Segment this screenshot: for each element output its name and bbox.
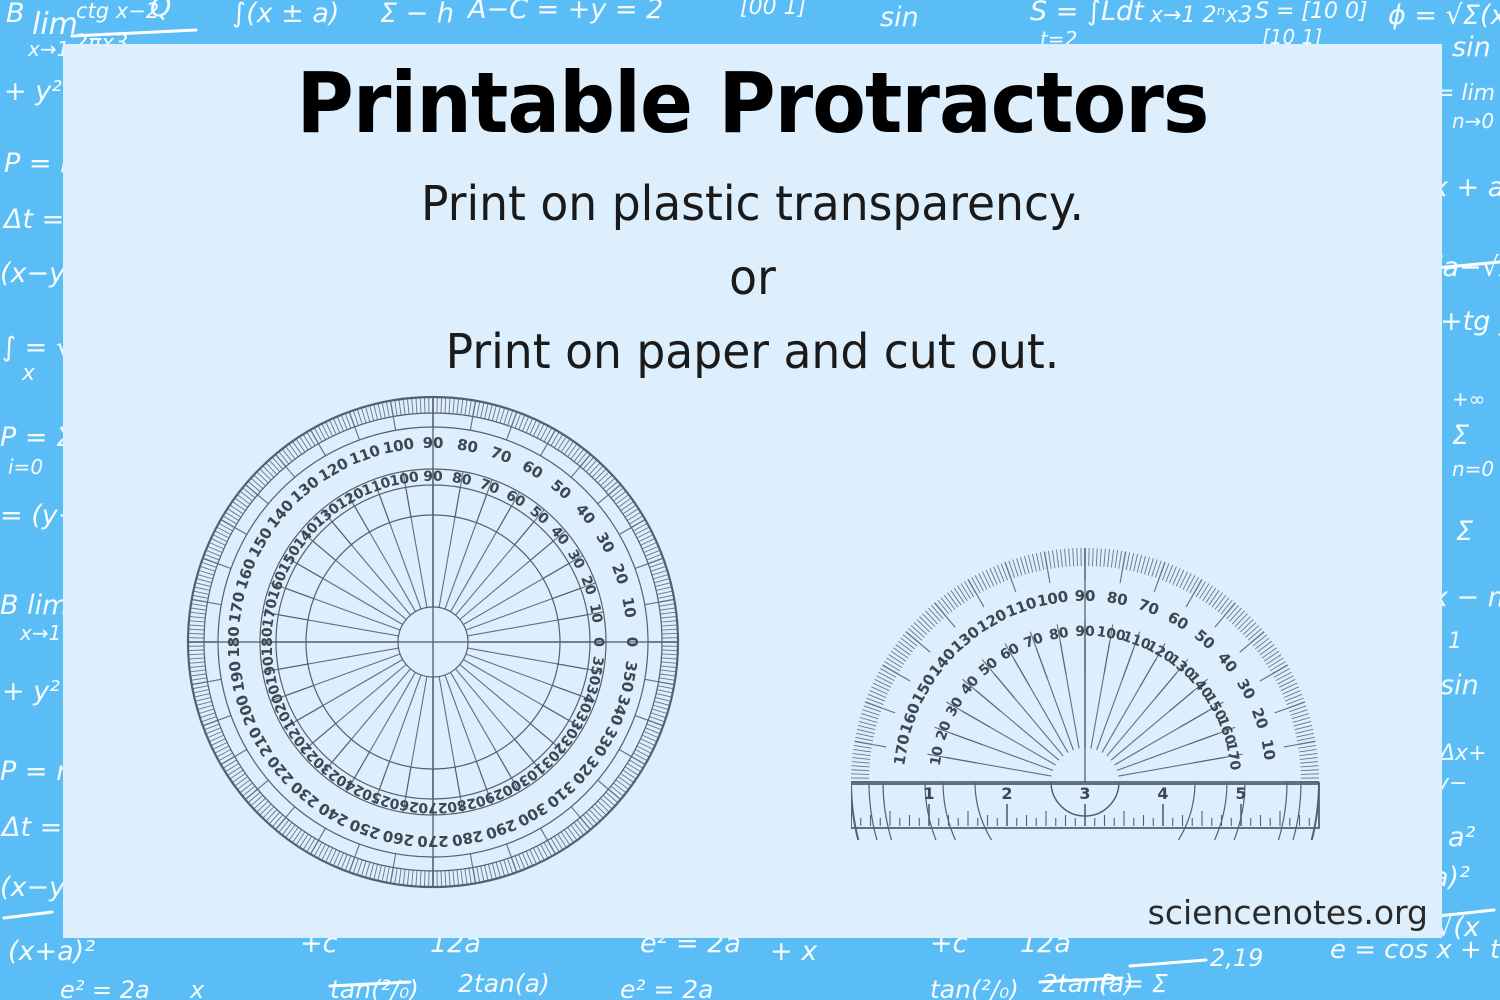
svg-text:340: 340 [606, 692, 634, 728]
svg-text:+ x: + x [770, 936, 818, 967]
svg-text:∫(x ± a): ∫(x ± a) [232, 0, 339, 29]
svg-text:290: 290 [483, 815, 519, 843]
svg-text:tan(²/₀): tan(²/₀) [330, 975, 419, 1000]
svg-text:ϕ = √Σ(x−: ϕ = √Σ(x− [1388, 0, 1500, 31]
svg-text:a²: a² [1448, 822, 1476, 853]
svg-text:190: 190 [260, 655, 281, 687]
svg-text:130: 130 [287, 473, 323, 507]
svg-text:10: 10 [1257, 738, 1278, 762]
svg-text:+tg y: +tg y [1440, 306, 1500, 337]
svg-text:e² = 2a: e² = 2a [60, 976, 150, 1000]
svg-text:80: 80 [1105, 588, 1129, 609]
svg-text:110: 110 [347, 441, 383, 469]
svg-text:n→0: n→0 [1452, 109, 1494, 133]
svg-text:i=0: i=0 [8, 455, 43, 479]
svg-text:40: 40 [1214, 649, 1241, 677]
svg-text:S = ∫Ldt: S = ∫Ldt [1030, 0, 1145, 27]
svg-text:170: 170 [225, 590, 248, 624]
svg-text:220: 220 [264, 752, 298, 788]
svg-text:90: 90 [423, 434, 444, 452]
svg-text:20: 20 [577, 574, 599, 598]
svg-text:sin: sin [880, 2, 919, 33]
svg-text:Q: Q [150, 0, 171, 23]
svg-text:60: 60 [998, 640, 1023, 664]
svg-text:40: 40 [572, 500, 599, 528]
svg-text:100: 100 [1036, 587, 1070, 610]
svg-text:270: 270 [418, 799, 447, 815]
svg-text:40: 40 [547, 523, 572, 548]
svg-text:180: 180 [260, 627, 276, 656]
watermark: sciencenotes.org [1148, 893, 1428, 932]
svg-text:70: 70 [1136, 595, 1162, 619]
svg-text:0: 0 [590, 637, 606, 647]
svg-text:230: 230 [287, 777, 323, 811]
svg-text:260: 260 [388, 794, 420, 815]
circular-protractor: 0010102020303040405050606070708080909010… [183, 392, 683, 892]
svg-text:40: 40 [958, 673, 983, 698]
svg-text:280: 280 [446, 794, 478, 815]
svg-text:e² = 2a: e² = 2a [620, 975, 713, 1000]
svg-text:110: 110 [1004, 593, 1040, 621]
svg-text:140: 140 [264, 496, 298, 532]
svg-text:Δt =: Δt = [2, 204, 64, 235]
svg-text:90: 90 [423, 469, 443, 485]
svg-text:90: 90 [1075, 624, 1095, 640]
svg-text:A−C = +y = 2: A−C = +y = 2 [466, 0, 663, 25]
svg-text:1: 1 [1448, 629, 1462, 654]
svg-text:20: 20 [608, 561, 632, 587]
svg-text:200: 200 [232, 692, 260, 728]
svg-text:50: 50 [526, 503, 551, 528]
svg-text:250: 250 [347, 815, 383, 843]
semicircular-protractor: 1020304050607080901001101201301401501601… [851, 490, 1341, 840]
svg-text:10: 10 [618, 596, 639, 620]
svg-text:350: 350 [617, 660, 640, 694]
svg-text:350: 350 [585, 655, 606, 687]
svg-text:2: 2 [1001, 784, 1012, 803]
svg-text:180: 180 [225, 626, 243, 657]
svg-text:280: 280 [451, 826, 485, 849]
svg-text:30: 30 [592, 529, 618, 556]
svg-text:170: 170 [890, 733, 913, 767]
svg-text:30: 30 [1233, 675, 1259, 702]
svg-text:P = Σ: P = Σ [1100, 969, 1168, 998]
svg-text:Σ: Σ [1456, 516, 1473, 547]
svg-text:50: 50 [976, 655, 1001, 680]
poster: B lim x→1 ctg x−2 2πx3 Q ∫(x ± a) Σ − h … [0, 0, 1500, 1000]
svg-text:20: 20 [1248, 705, 1272, 731]
svg-text:30: 30 [564, 547, 588, 572]
svg-text:160: 160 [896, 701, 924, 737]
instruction-line-2: or [97, 250, 1407, 306]
svg-text:60: 60 [519, 457, 546, 483]
svg-text:B: B [6, 0, 25, 29]
svg-text:100: 100 [381, 434, 415, 457]
svg-text:0: 0 [623, 637, 641, 647]
svg-text:50: 50 [1191, 626, 1219, 653]
svg-text:5: 5 [1235, 784, 1246, 803]
svg-text:10: 10 [928, 745, 947, 767]
page-title: Printable Protractors [111, 54, 1393, 152]
svg-text:x: x [189, 976, 205, 1000]
svg-text:3: 3 [1079, 784, 1090, 803]
instruction-line-3: Print on paper and cut out. [97, 324, 1407, 380]
svg-text:S = [10 0]: S = [10 0] [1255, 0, 1368, 24]
svg-text:tan(²/₀): tan(²/₀) [930, 975, 1019, 1000]
content-panel: Printable Protractors Print on plastic t… [63, 44, 1442, 938]
svg-text:70: 70 [488, 443, 514, 467]
svg-text:310: 310 [543, 777, 579, 811]
svg-text:e = cos x + tg y: e = cos x + tg y [1330, 935, 1500, 965]
svg-text:ctg x−2: ctg x−2 [76, 0, 159, 23]
svg-text:10: 10 [586, 602, 605, 624]
svg-text:80: 80 [451, 470, 473, 489]
svg-text:Σ − h: Σ − h [380, 0, 454, 29]
svg-text:30: 30 [943, 694, 967, 719]
svg-text:90: 90 [1075, 587, 1096, 605]
svg-text:80: 80 [456, 435, 480, 456]
svg-text:60: 60 [503, 487, 528, 511]
svg-text:[00 1]: [00 1] [740, 0, 806, 20]
svg-text:270: 270 [417, 832, 448, 850]
svg-text:2tan(a): 2tan(a) [458, 969, 550, 998]
svg-text:n=0: n=0 [1452, 457, 1494, 481]
svg-text:70: 70 [1022, 630, 1046, 652]
svg-text:1: 1 [923, 784, 934, 803]
svg-text:170: 170 [1222, 740, 1243, 772]
svg-text:70: 70 [478, 476, 502, 498]
svg-text:20: 20 [933, 719, 955, 743]
svg-text:100: 100 [389, 469, 421, 490]
svg-text:60: 60 [1164, 608, 1191, 634]
svg-text:50: 50 [547, 476, 575, 503]
svg-text:Δx+: Δx+ [1438, 741, 1487, 766]
svg-text:170: 170 [260, 597, 281, 629]
svg-text:x→1 2ⁿx3: x→1 2ⁿx3 [1149, 3, 1252, 28]
svg-text:4: 4 [1157, 784, 1168, 803]
svg-text:260: 260 [381, 826, 415, 849]
svg-text:80: 80 [1048, 625, 1070, 644]
svg-text:B lim: B lim [0, 590, 68, 621]
svg-text:(x+a)²: (x+a)² [8, 936, 95, 967]
svg-text:+∞: +∞ [1452, 387, 1485, 411]
instruction-line-1: Print on plastic transparency. [97, 176, 1407, 232]
svg-text:sin: sin [1440, 670, 1479, 701]
svg-text:2,19: 2,19 [1210, 944, 1263, 972]
svg-text:x: x [21, 361, 36, 386]
svg-text:160: 160 [232, 556, 260, 592]
svg-text:190: 190 [225, 660, 248, 694]
svg-text:sin: sin [1452, 32, 1491, 63]
svg-text:Σ: Σ [1452, 420, 1469, 451]
svg-text:320: 320 [568, 752, 602, 788]
svg-text:= lim: = lim [1436, 81, 1495, 106]
